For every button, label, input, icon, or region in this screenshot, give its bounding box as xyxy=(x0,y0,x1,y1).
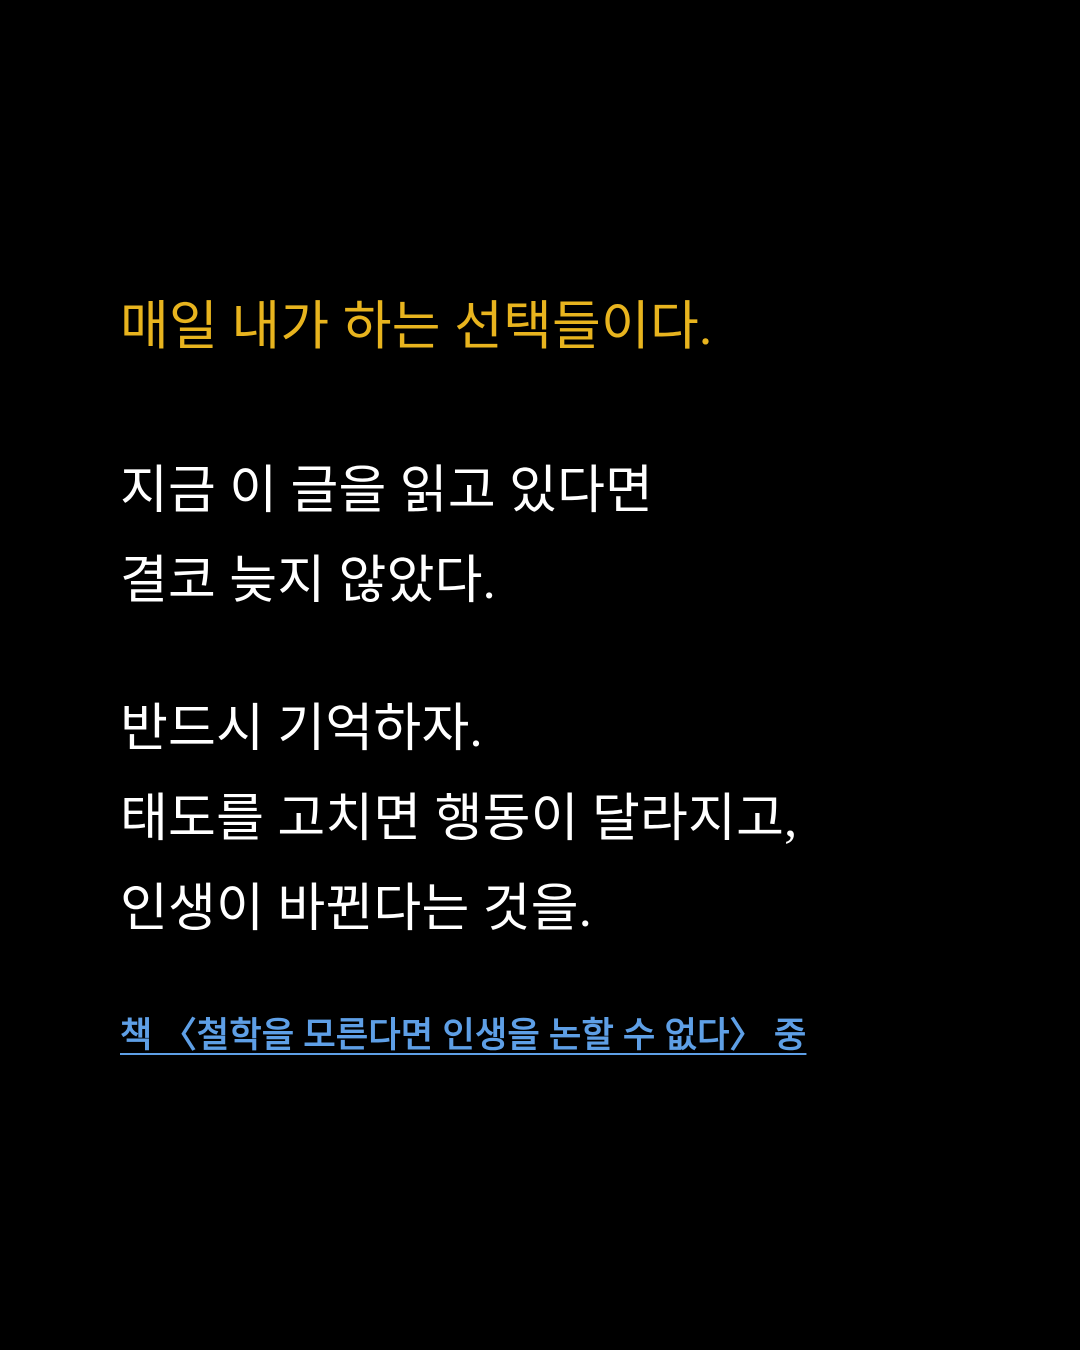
spacer-body-to-attribution xyxy=(120,955,980,1013)
paragraph-line: 지금 이 글을 읽고 있다면 xyxy=(120,447,980,537)
spacer-title-to-body xyxy=(120,358,980,447)
spacer-between-paragraphs xyxy=(120,627,980,685)
paragraph-line: 반드시 기억하자. xyxy=(120,685,980,775)
quote-content: 매일 내가 하는 선택들이다. 지금 이 글을 읽고 있다면 결코 늦지 않았다… xyxy=(120,296,980,1059)
paragraph-line: 태도를 고치면 행동이 달라지고, xyxy=(120,775,980,865)
quote-card: 매일 내가 하는 선택들이다. 지금 이 글을 읽고 있다면 결코 늦지 않았다… xyxy=(0,0,1080,1350)
paragraph-remember: 반드시 기억하자. 태도를 고치면 행동이 달라지고, 인생이 바뀐다는 것을. xyxy=(120,685,980,955)
paragraph-line: 결코 늦지 않았다. xyxy=(120,537,980,627)
paragraph-reading-now: 지금 이 글을 읽고 있다면 결코 늦지 않았다. xyxy=(120,447,980,627)
source-attribution: 책 〈철학을 모른다면 인생을 논할 수 없다〉 중 xyxy=(120,1013,806,1059)
paragraph-line: 인생이 바뀐다는 것을. xyxy=(120,865,980,955)
page-title: 매일 내가 하는 선택들이다. xyxy=(120,296,980,358)
